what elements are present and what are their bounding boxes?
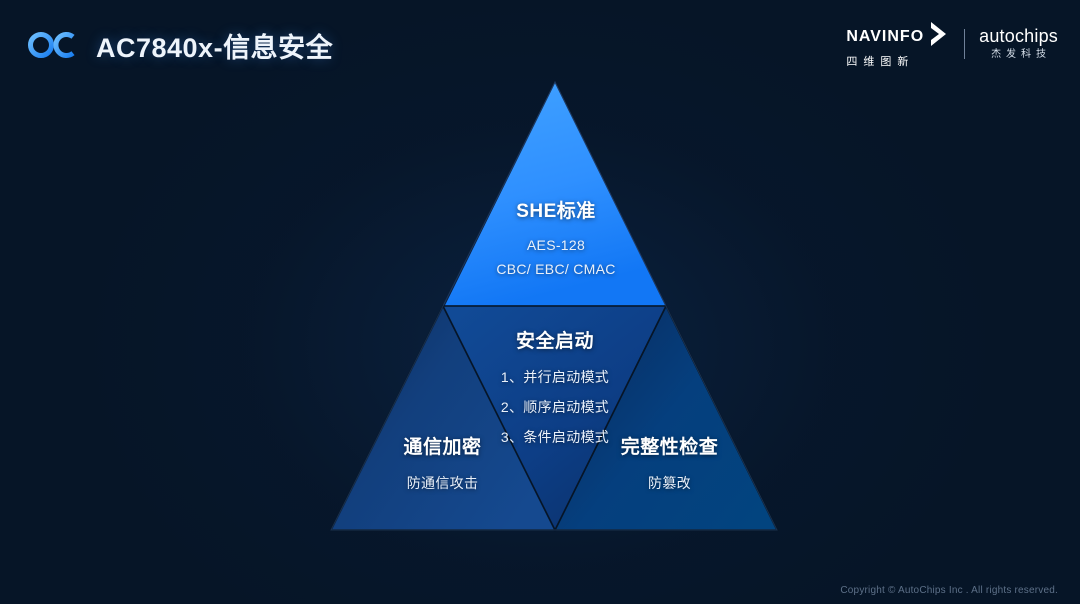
integrity-check-label: 完整性检查 防篡改 — [582, 432, 757, 493]
partner-logos: NAVINFO 四维图新 autochips 杰发科技 — [846, 22, 1058, 66]
communication-encryption-heading: 通信加密 — [355, 432, 530, 459]
she-standard-heading: SHE标准 — [436, 196, 676, 223]
communication-encryption-label: 通信加密 防通信攻击 — [355, 432, 530, 493]
integrity-check-sub: 防篡改 — [582, 473, 757, 493]
she-standard-line2: CBC/ EBC/ CMAC — [436, 261, 676, 277]
logo-divider — [964, 29, 965, 59]
navinfo-en-label: NAVINFO — [846, 28, 924, 46]
oc-logo-icon — [26, 30, 82, 60]
navinfo-cn-label: 四维图新 — [846, 55, 914, 69]
autochips-cn-label: 杰发科技 — [986, 48, 1051, 62]
page-title: AC7840x-信息安全 — [96, 26, 333, 65]
security-pyramid-diagram — [0, 0, 1080, 604]
slide-header: AC7840x-信息安全 NAVINFO 四维图新 autochips 杰发科技 — [0, 0, 1080, 86]
navinfo-logo: NAVINFO 四维图新 — [846, 19, 950, 69]
integrity-check-heading: 完整性检查 — [582, 432, 757, 459]
she-standard-line1: AES-128 — [436, 237, 676, 253]
secure-boot-heading: 安全启动 — [435, 326, 675, 353]
slide-root: AC7840x-信息安全 NAVINFO 四维图新 autochips 杰发科技 — [0, 0, 1080, 604]
secure-boot-label: 安全启动 1、并行启动模式 2、顺序启动模式 3、条件启动模式 — [435, 326, 675, 447]
autochips-logo: autochips 杰发科技 — [979, 26, 1058, 62]
secure-boot-item-1: 1、并行启动模式 — [435, 367, 675, 387]
chevron-right-icon — [928, 19, 950, 54]
autochips-en-label: autochips — [979, 26, 1058, 46]
copyright-text: Copyright © AutoChips Inc . All rights r… — [840, 585, 1058, 596]
she-standard-label: SHE标准 AES-128 CBC/ EBC/ CMAC — [436, 196, 676, 277]
communication-encryption-sub: 防通信攻击 — [355, 473, 530, 493]
secure-boot-item-2: 2、顺序启动模式 — [435, 397, 675, 417]
